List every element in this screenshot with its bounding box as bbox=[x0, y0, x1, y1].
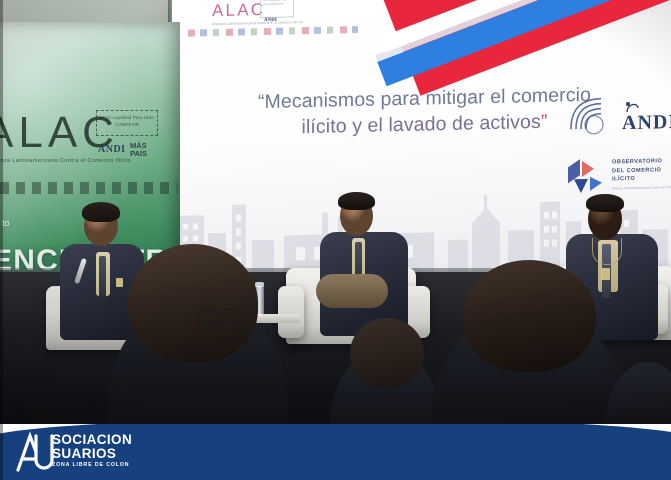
audience-head-2 bbox=[350, 318, 424, 388]
audience-head-3 bbox=[462, 260, 596, 372]
speaker-tie bbox=[99, 256, 106, 298]
eyeglasses-icon bbox=[196, 304, 242, 330]
screen-sponsor-logo-strip bbox=[188, 26, 358, 37]
conference-photograph: ALAC Alianza Latinoamericana Contra el C… bbox=[0, 0, 671, 480]
screen-alac-logo: ALAC bbox=[212, 0, 265, 21]
observatorio-logo-icon bbox=[564, 154, 610, 197]
panelist-center-hair bbox=[338, 192, 375, 210]
observatorio-logo-text: OBSERVATORIO DEL COMERCIO ILÍCITO bbox=[612, 157, 671, 185]
screen-title-quote-close: ” bbox=[541, 111, 548, 133]
armchair-center-left-arm bbox=[278, 286, 304, 338]
screen-stamp-badge: MÁS Legalidad Para Libre COMPETIR bbox=[260, 0, 294, 18]
speaker-badge bbox=[116, 278, 123, 287]
observatorio-line-1: OBSERVATORIO bbox=[612, 157, 671, 168]
andi-logo-text: ANDI bbox=[622, 111, 671, 135]
screenshot-root: ALAC Alianza Latinoamericana Contra el C… bbox=[0, 0, 671, 480]
observatorio-line-3: ILÍCITO bbox=[612, 174, 671, 185]
lanyard-icon bbox=[592, 238, 622, 265]
panelist-right-badge bbox=[601, 268, 610, 280]
screen-andi-small-logo: ANDI bbox=[264, 18, 277, 23]
banner-stamp-badge: MÁS Legalidad Para Libre COMPETIR bbox=[96, 110, 158, 136]
panelist-right-hair bbox=[586, 194, 624, 212]
banner-alac-tagline: Alianza Latinoamericana Contra el Comerc… bbox=[0, 158, 150, 164]
panelist-center-hands bbox=[316, 274, 388, 308]
audience-head-1 bbox=[128, 244, 258, 362]
maspais-line-2: PAÍS bbox=[130, 150, 147, 158]
screen-title-line-2-text: ilícito y el lavado de activos bbox=[302, 111, 541, 138]
banner-event-ordinal: to bbox=[2, 218, 10, 228]
speaker-hair bbox=[82, 202, 120, 222]
banner-maspais-logo: MÁS PAÍS bbox=[130, 142, 147, 158]
camara-logo-icon bbox=[567, 94, 609, 141]
banner-sponsor-logo-strip bbox=[0, 182, 180, 194]
banner-andi-logo: ANDI bbox=[98, 144, 126, 155]
